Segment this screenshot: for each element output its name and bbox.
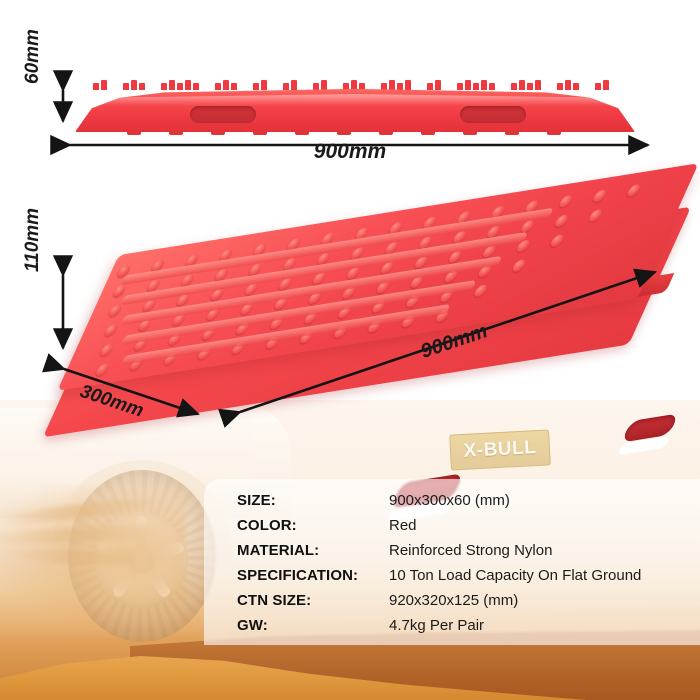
side-view-nub: [489, 83, 495, 90]
side-view-bottom-nub: [295, 130, 309, 135]
side-view-nub: [253, 83, 259, 90]
side-view-nub: [123, 83, 129, 90]
iso-stud: [553, 214, 569, 228]
iso-stud: [98, 343, 114, 357]
side-view-nub: [457, 83, 463, 90]
side-view-nub: [573, 83, 579, 90]
label-60mm: 60mm: [22, 29, 44, 84]
iso-stud: [511, 259, 527, 273]
side-view-nub: [595, 83, 601, 90]
side-view-nub: [511, 83, 517, 90]
side-view-nub: [261, 80, 267, 90]
side-view-nub: [313, 83, 319, 90]
iso-stud: [103, 324, 119, 338]
spec-value: Reinforced Strong Nylon: [389, 542, 552, 559]
side-view-bottom-nub: [379, 130, 393, 135]
side-view-bottom-nub: [505, 130, 519, 135]
side-view-nub: [527, 83, 533, 90]
side-view-bottom-nub: [463, 130, 477, 135]
side-view-nub: [139, 83, 145, 90]
iso-stud: [107, 304, 123, 318]
side-view-nub: [351, 80, 357, 90]
side-view-bottom-nub: [211, 130, 225, 135]
specification-panel: SIZE:900x300x60 (mm)COLOR:RedMATERIAL:Re…: [204, 479, 700, 645]
label-110mm-text: 110mm: [22, 208, 44, 272]
side-view-nub: [131, 80, 137, 90]
spec-row: MATERIAL:Reinforced Strong Nylon: [237, 538, 552, 563]
spec-label: SIZE:: [237, 492, 389, 509]
spec-row: SPECIFICATION:10 Ton Load Capacity On Fl…: [237, 563, 641, 588]
spec-label: COLOR:: [237, 517, 389, 534]
side-view-nub: [397, 83, 403, 90]
side-view-bottom-nub: [421, 130, 435, 135]
traction-board-iso-view: [60, 200, 680, 415]
iso-stud: [549, 234, 565, 248]
side-view-handle-hole: [460, 106, 526, 123]
side-view-nub: [557, 83, 563, 90]
side-view-nub: [321, 80, 327, 90]
side-view-nub: [223, 80, 229, 90]
side-view-nub: [185, 80, 191, 90]
spec-row: GW:4.7kg Per Pair: [237, 613, 484, 638]
side-view-nub: [389, 80, 395, 90]
spec-row: CTN SIZE:920x320x125 (mm): [237, 588, 518, 613]
side-view-nub: [427, 83, 433, 90]
spec-label: MATERIAL:: [237, 542, 389, 559]
label-900mm-side: 900mm: [0, 140, 700, 164]
side-view-nub: [215, 83, 221, 90]
spec-row: SIZE:900x300x60 (mm): [237, 488, 510, 513]
side-view-nub: [101, 80, 107, 90]
spec-label: CTN SIZE:: [237, 592, 389, 609]
side-view-bottom-nubs: [127, 130, 583, 136]
side-view-nub: [231, 83, 237, 90]
side-view-nub: [161, 83, 167, 90]
side-view-bottom-nub: [547, 130, 561, 135]
side-view-nub: [405, 80, 411, 90]
side-view-nub: [343, 83, 349, 90]
iso-stud: [558, 195, 574, 209]
spec-label: GW:: [237, 617, 389, 634]
side-view-bottom-nub: [169, 130, 183, 135]
side-view-bottom-nub: [127, 130, 141, 135]
product-infographic: X-BULL: [0, 0, 700, 700]
side-view-nub: [93, 83, 99, 90]
spec-row: COLOR:Red: [237, 513, 417, 538]
iso-stud: [472, 284, 488, 298]
iso-stud: [587, 209, 603, 223]
side-view-nub: [565, 80, 571, 90]
side-view-nub: [177, 83, 183, 90]
x-bull-badge-label: X-BULL: [463, 437, 537, 463]
side-view-nub: [291, 80, 297, 90]
iso-stud: [94, 363, 110, 377]
iso-stud: [592, 189, 608, 203]
side-view-nub: [193, 83, 199, 90]
spec-value: 900x300x60 (mm): [389, 492, 510, 509]
side-view-nub: [435, 80, 441, 90]
side-view-nub: [481, 80, 487, 90]
spec-value: 4.7kg Per Pair: [389, 617, 484, 634]
spec-value: 920x320x125 (mm): [389, 592, 518, 609]
spec-label: SPECIFICATION:: [237, 567, 389, 584]
side-view-nub: [283, 83, 289, 90]
iso-stud: [626, 184, 642, 198]
side-view-nub: [381, 83, 387, 90]
spec-value: 10 Ton Load Capacity On Flat Ground: [389, 567, 641, 584]
x-bull-badge: X-BULL: [449, 429, 551, 470]
side-view-bottom-nub: [253, 130, 267, 135]
side-view-nub: [603, 80, 609, 90]
side-view-bottom-nub: [337, 130, 351, 135]
traction-board-side-view: [75, 78, 635, 134]
side-view-nub: [465, 80, 471, 90]
side-view-nub: [359, 83, 365, 90]
side-view-nub: [519, 80, 525, 90]
side-view-nub: [473, 83, 479, 90]
side-view-nub: [535, 80, 541, 90]
spec-value: Red: [389, 517, 417, 534]
side-view-handle-hole: [190, 106, 256, 123]
side-view-nub: [169, 80, 175, 90]
